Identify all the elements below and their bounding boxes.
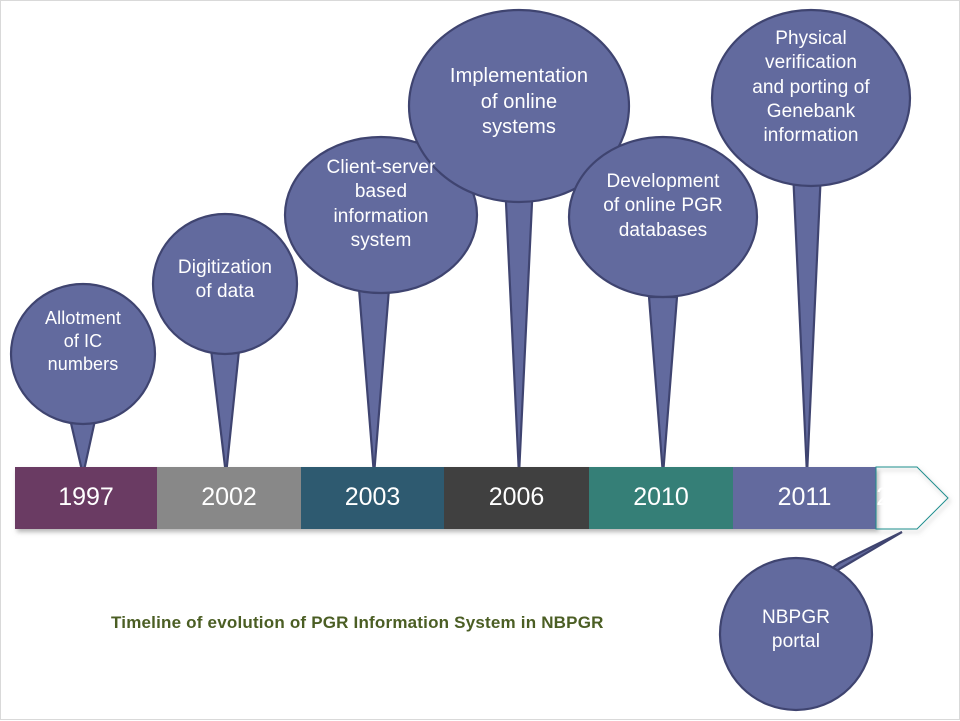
timeline-segment-2010[interactable] — [589, 467, 733, 529]
timeline-segment-2003[interactable] — [301, 467, 444, 529]
timeline-segment-2002[interactable] — [157, 467, 301, 529]
diagram-caption: Timeline of evolution of PGR Information… — [111, 613, 604, 633]
timeline-bar — [15, 467, 948, 529]
callout-tail-2006 — [504, 161, 534, 475]
callout-tail-2003 — [359, 289, 389, 475]
timeline-segment-2011[interactable] — [733, 467, 876, 529]
callout-bubble-2011[interactable] — [712, 10, 910, 186]
callout-bubble-2012[interactable] — [720, 558, 872, 710]
callout-tail-2011 — [793, 171, 821, 475]
callout-bubbles — [11, 10, 910, 710]
callout-tail-2002 — [210, 341, 240, 475]
callout-bubble-2002[interactable] — [153, 214, 297, 354]
timeline-segment-1997[interactable] — [15, 467, 157, 529]
callout-tail-2010 — [649, 297, 677, 475]
callout-bubble-1997[interactable] — [11, 284, 155, 424]
timeline-diagram: 0% #74cfcb 45% #30a5a3 100% #1f8f8e — [0, 0, 960, 720]
timeline-segment-2012-arrow[interactable] — [876, 467, 948, 529]
timeline-segment-2006[interactable] — [444, 467, 589, 529]
callout-bubble-2010[interactable] — [569, 137, 757, 297]
